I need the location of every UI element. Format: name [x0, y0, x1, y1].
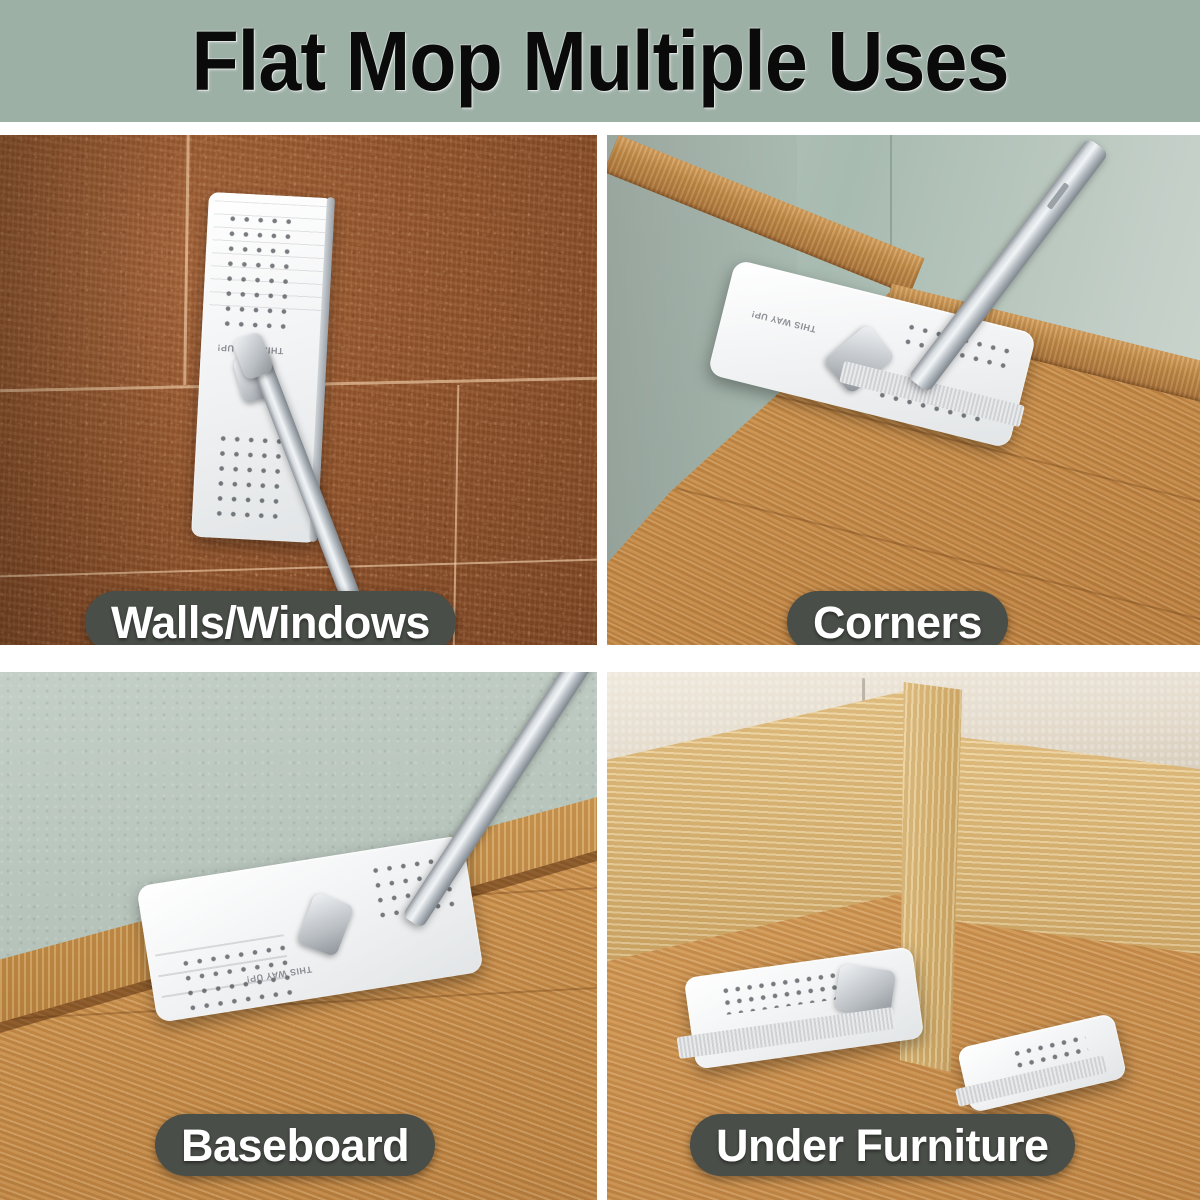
- panel-label-text: Baseboard: [181, 1123, 409, 1168]
- this-way-up-marking: THIS WAY UP!: [750, 309, 817, 335]
- panel-label-corners[interactable]: Corners: [787, 591, 1008, 645]
- panel-walls-windows[interactable]: THIS WAY UP! Walls/Windows: [0, 135, 597, 645]
- mop-swivel-joint: [296, 892, 355, 957]
- panel-label-text: Corners: [813, 600, 982, 645]
- wall-shadow: [0, 135, 190, 645]
- scene-room-corner: THIS WAY UP!: [607, 135, 1200, 645]
- panel-label-walls-windows[interactable]: Walls/Windows: [85, 591, 456, 645]
- panel-label-under-furniture[interactable]: Under Furniture: [690, 1114, 1075, 1176]
- mop-head-holes: [220, 211, 300, 330]
- panel-label-text: Walls/Windows: [111, 600, 430, 645]
- page-title: Flat Mop Multiple Uses: [191, 19, 1008, 103]
- infographic-root: Flat Mop Multiple Uses THIS WAY UP!: [0, 0, 1200, 1200]
- mop-head-holes: [212, 431, 291, 530]
- panel-baseboard[interactable]: THIS WAY UP! Baseboard: [0, 672, 597, 1200]
- panel-label-text: Under Furniture: [716, 1123, 1049, 1168]
- mop-head-holes: [719, 969, 842, 1015]
- panel-label-baseboard[interactable]: Baseboard: [155, 1114, 435, 1176]
- panel-corners[interactable]: THIS WAY UP! Corners: [607, 135, 1200, 645]
- panel-grid: THIS WAY UP! Walls/Windows: [0, 135, 1200, 1200]
- scene-tile-wall: THIS WAY UP!: [0, 135, 597, 645]
- panel-under-furniture[interactable]: Under Furniture: [607, 672, 1200, 1200]
- header-band: Flat Mop Multiple Uses: [0, 0, 1200, 122]
